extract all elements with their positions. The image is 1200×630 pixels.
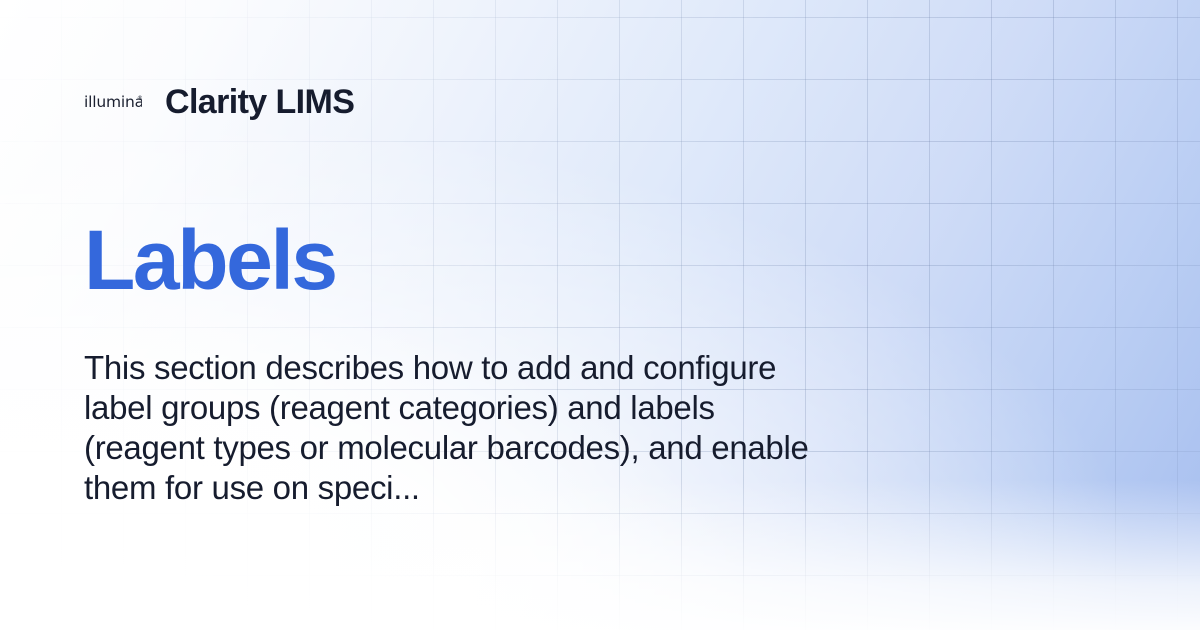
product-name: Clarity LIMS	[165, 85, 354, 119]
illumina-logo-text: illumina	[84, 93, 142, 111]
page-title: Labels	[84, 218, 336, 302]
page-description: This section describes how to add and co…	[84, 348, 844, 508]
brand-header: illumina ® Clarity LIMS	[84, 85, 354, 119]
illumina-trademark-icon: ®	[137, 95, 142, 102]
og-card: illumina ® Clarity LIMS Labels This sect…	[0, 0, 1200, 630]
card-content: illumina ® Clarity LIMS Labels This sect…	[0, 0, 1200, 630]
illumina-logo-icon: illumina ®	[84, 92, 142, 112]
